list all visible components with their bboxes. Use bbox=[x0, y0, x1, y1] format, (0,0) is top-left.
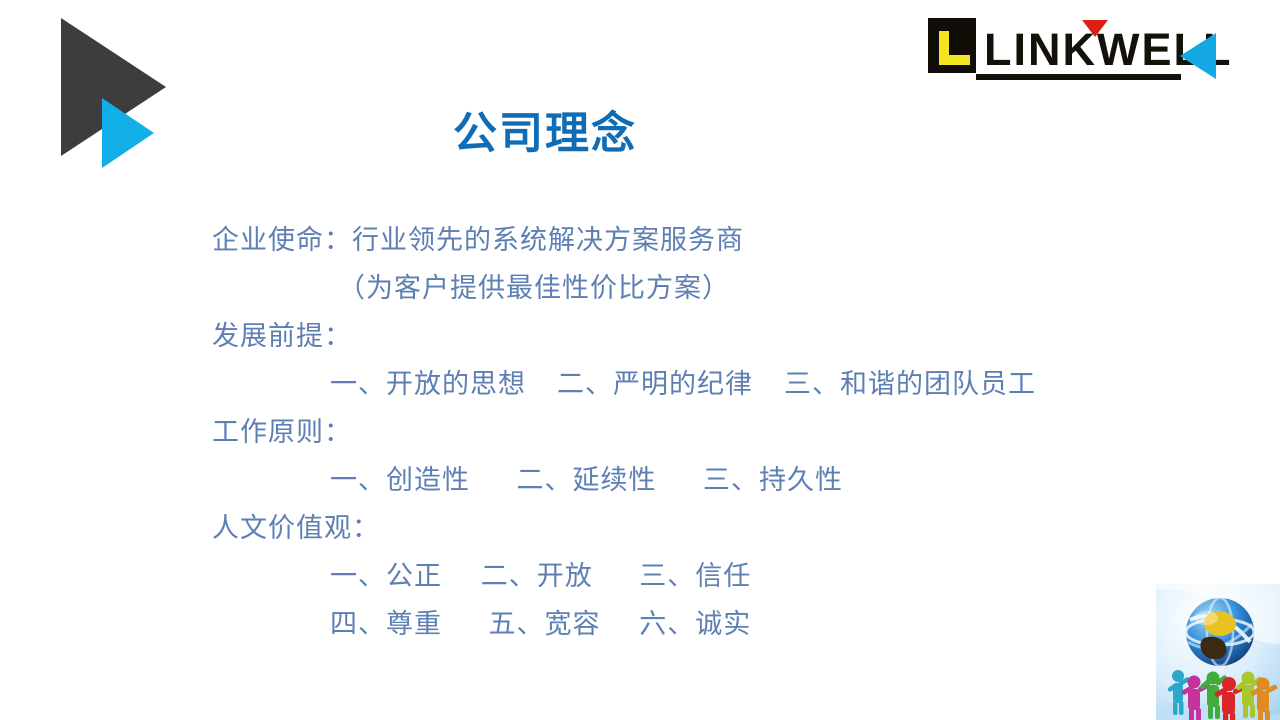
content-line: 一、公正 二、开放 三、信任 bbox=[212, 552, 1112, 600]
content-line: 一、开放的思想 二、严明的纪律 三、和谐的团队员工 bbox=[212, 360, 1112, 408]
content-line: 人文价值观： bbox=[212, 504, 1112, 552]
content-line: （为客户提供最佳性价比方案） bbox=[212, 264, 1112, 312]
logo-l-foot bbox=[939, 55, 970, 65]
logo-mark-icon bbox=[928, 18, 976, 73]
page-title: 公司理念 bbox=[0, 106, 1090, 162]
brand-logo: LINKWELL bbox=[928, 10, 1228, 88]
content-line: 工作原则： bbox=[212, 408, 1112, 456]
logo-blue-arrow-icon bbox=[1180, 33, 1216, 79]
content-line: 四、尊重 五、宽容 六、诚实 bbox=[212, 600, 1112, 648]
content-line: 企业使命：行业领先的系统解决方案服务商 bbox=[212, 216, 1112, 264]
content-line: 一、创造性 二、延续性 三、持久性 bbox=[212, 456, 1112, 504]
slide-canvas: LINKWELL 公司理念 企业使命：行业领先的系统解决方案服务商 （为客户提供… bbox=[0, 0, 1280, 720]
content-body: 企业使命：行业领先的系统解决方案服务商 （为客户提供最佳性价比方案） 发展前提：… bbox=[212, 216, 1112, 648]
globe-people-clipart bbox=[1156, 584, 1280, 720]
logo-underline bbox=[976, 74, 1181, 80]
globe-people-svg bbox=[1156, 584, 1280, 720]
content-line: 发展前提： bbox=[212, 312, 1112, 360]
